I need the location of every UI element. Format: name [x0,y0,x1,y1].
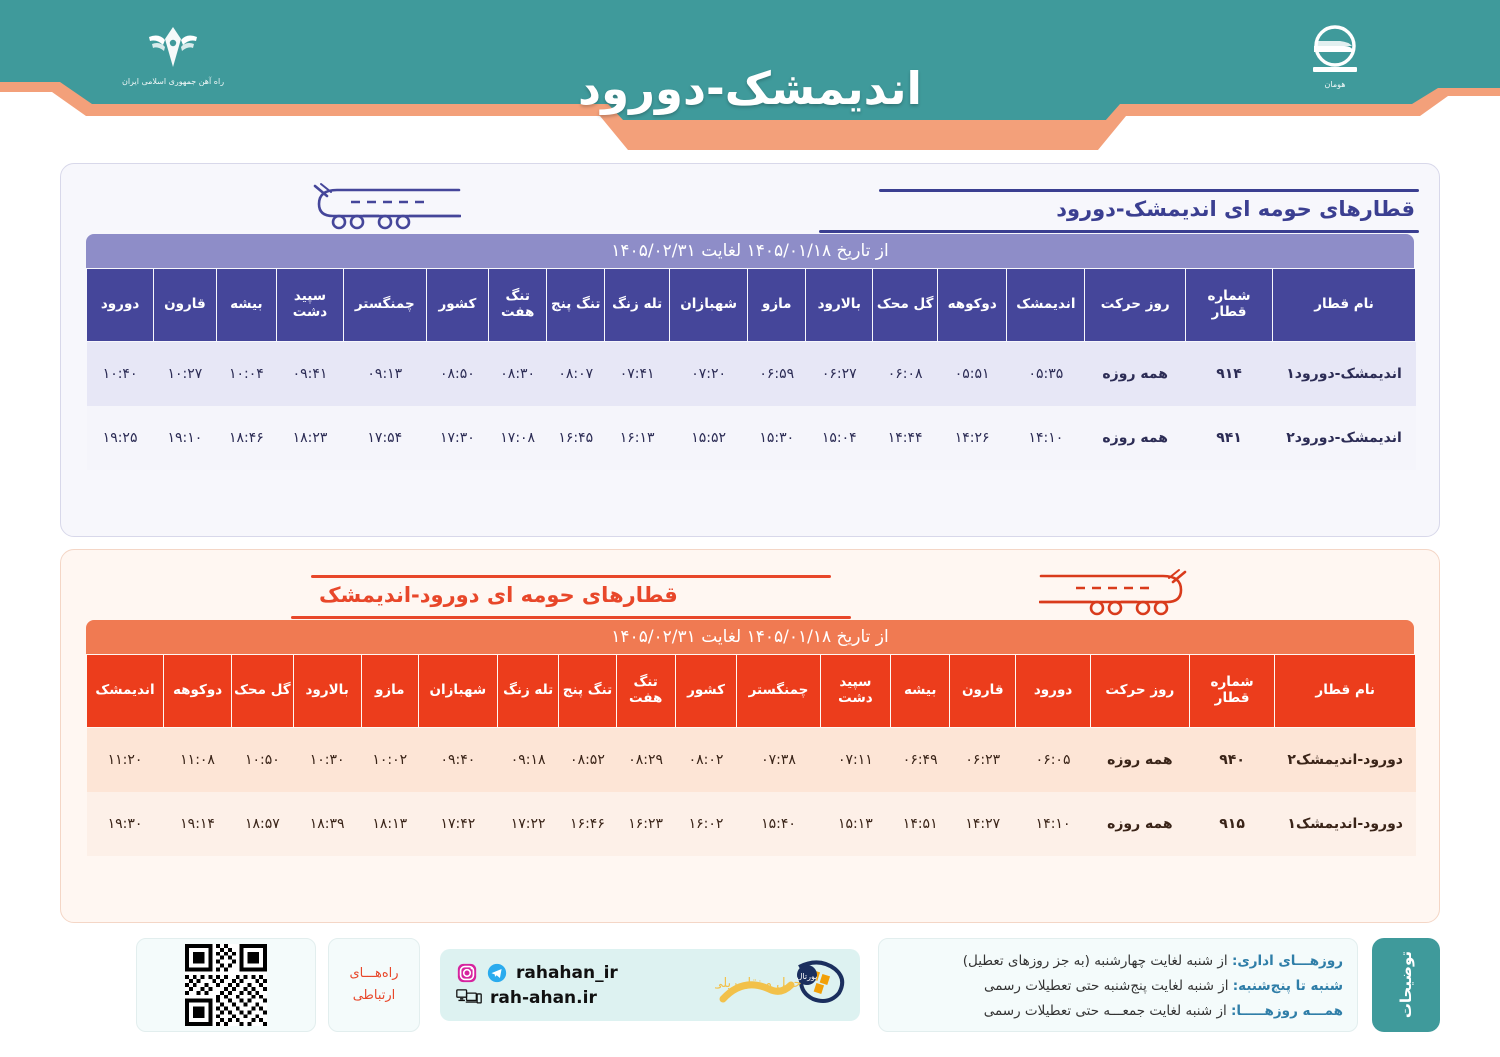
time-cell: ۱۰:۲۷ [154,342,217,407]
telegram-icon[interactable] [486,962,508,984]
time-cell: ۱۴:۱۰ [1007,406,1085,470]
contact-badge-line2: ارتباطی [349,985,398,1007]
col-station-12: بالارود [293,655,361,728]
table-row: دورود-اندیمشک۱ ۹۱۵ همه روزه ۱۴:۱۰ ۱۴:۲۷ … [87,792,1416,856]
note-text-3: از شنبه لغایت جمعـــه حتی تعطیلات رسمی [984,1003,1231,1019]
time-cell: ۱۱:۰۸ [164,728,232,793]
col-station-1: دورود [1016,655,1091,728]
time-cell: ۱۶:۲۳ [616,792,675,856]
notes-badge: توضیحات [1372,938,1440,1032]
note-line-3: همـــه روزهـــــا: از شنبه لغایت جمعـــه… [889,999,1343,1024]
time-cell: ۱۴:۵۱ [891,792,950,856]
col-train-name: نام قطار [1273,269,1416,342]
train-line-icon [311,182,461,234]
col-station-5: چمنگستر [737,655,820,728]
col-station-4: سپید دشت [820,655,890,728]
schedule-panel-dorud-andimeshk: قطارهای حومه ای دورود-اندیمشک از تاریخ ۱… [60,549,1440,923]
time-cell: ۱۹:۲۵ [87,406,154,470]
col-station-15: اندیمشک [87,655,164,728]
time-cell: ۱۹:۳۰ [87,792,164,856]
time-cell: ۰۹:۴۱ [276,342,343,407]
page-footer: توضیحات روزهـــای اداری: از شنبه لغایت چ… [60,935,1440,1047]
table2-header-row: نام قطار شماره قطار روز حرکت دورود قارون… [87,655,1416,728]
time-cell: ۰۸:۵۰ [426,342,489,407]
col-station-8: تنگ پنج [547,269,605,342]
time-cell: ۰۶:۲۷ [806,342,873,407]
time-cell: ۰۹:۱۳ [343,342,426,407]
time-cell: ۰۷:۲۰ [670,342,748,407]
time-cell: ۰۶:۰۵ [1016,728,1091,793]
train-name: اندیمشک-دورود۲ [1273,406,1416,470]
time-cell: ۱۸:۳۹ [293,792,361,856]
time-cell: ۱۵:۵۲ [670,406,748,470]
time-cell: ۱۴:۲۶ [938,406,1007,470]
table-row: اندیمشک-دورود۲ ۹۴۱ همه روزه ۱۴:۱۰ ۱۴:۲۶ … [87,406,1416,470]
col-station-6: شهبازان [670,269,748,342]
train-name: دورود-اندیمشک۱ [1275,792,1416,856]
table-row: اندیمشک-دورود۱ ۹۱۴ همه روزه ۰۵:۳۵ ۰۵:۵۱ … [87,342,1416,407]
note-label-3: همـــه روزهـــــا: [1231,1003,1343,1019]
col-station-13: گل محک [232,655,294,728]
time-cell: ۰۷:۳۸ [737,728,820,793]
section1-date-range: از تاریخ ۱۴۰۵/۰۱/۱۸ لغایت ۱۴۰۵/۰۲/۳۱ [86,234,1414,268]
time-cell: ۱۴:۴۴ [873,406,938,470]
time-cell: ۱۵:۰۴ [806,406,873,470]
time-cell: ۱۶:۴۶ [559,792,616,856]
col-station-3: بیشه [891,655,950,728]
time-cell: ۱۸:۴۶ [216,406,276,470]
time-cell: ۱۵:۳۰ [748,406,806,470]
time-cell: ۱۷:۰۸ [489,406,547,470]
train-name: دورود-اندیمشک۲ [1275,728,1416,793]
social-links: rahahan_ir rah-ahan.ir [440,959,710,1012]
time-cell: ۱۰:۰۲ [361,728,418,793]
contact-badge-line1: راه‌هـــای [349,963,398,985]
right-logo-caption: هومان [1325,80,1346,89]
col-station-14: دوکوهه [164,655,232,728]
section2-title: قطارهای حومه ای دورود-اندیمشک [319,583,678,607]
col-station-4: بالارود [806,269,873,342]
time-cell: ۱۰:۳۰ [293,728,361,793]
notes-box: روزهـــای اداری: از شنبه لغایت چهارشنبه … [878,938,1358,1032]
train-number: ۹۱۵ [1189,792,1275,856]
time-cell: ۱۷:۴۲ [418,792,497,856]
time-cell: ۱۸:۱۳ [361,792,418,856]
time-cell: ۱۰:۴۰ [87,342,154,407]
social-row-website[interactable]: rah-ahan.ir [456,987,696,1009]
time-cell: ۱۱:۲۰ [87,728,164,793]
time-cell: ۰۸:۳۰ [489,342,547,407]
col-run-days: روز حرکت [1090,655,1189,728]
time-cell: ۰۹:۱۸ [497,728,559,793]
train-line-icon [1039,568,1189,620]
time-cell: ۱۴:۱۰ [1016,792,1091,856]
col-station-14: قارون [154,269,217,342]
website-url[interactable]: rah-ahan.ir [490,988,597,1008]
time-cell: ۱۰:۰۴ [216,342,276,407]
schedule-table-dorud-andimeshk: نام قطار شماره قطار روز حرکت دورود قارون… [86,654,1416,856]
time-cell: ۱۰:۵۰ [232,728,294,793]
note-line-1: روزهـــای اداری: از شنبه لغایت چهارشنبه … [889,949,1343,974]
section1-title: قطارهای حومه ای اندیمشک-دورود [1056,197,1415,221]
iran-railways-winged-emblem-icon [145,23,201,75]
campaign-logo: پورتال حمل و نقل ریلی [710,953,860,1017]
time-cell: ۱۴:۲۷ [950,792,1016,856]
time-cell: ۰۵:۳۵ [1007,342,1085,407]
time-cell: ۰۸:۰۷ [547,342,605,407]
col-train-name: نام قطار [1275,655,1416,728]
col-run-days: روز حرکت [1085,269,1186,342]
time-cell: ۰۸:۵۲ [559,728,616,793]
section2-date-range: از تاریخ ۱۴۰۵/۰۱/۱۸ لغایت ۱۴۰۵/۰۲/۳۱ [86,620,1414,654]
train-name: اندیمشک-دورود۱ [1273,342,1416,407]
run-days: همه روزه [1085,342,1186,407]
time-cell: ۱۸:۲۳ [276,406,343,470]
train-number: ۹۴۰ [1189,728,1275,793]
train-number: ۹۱۴ [1185,342,1272,407]
col-station-2: دوکوهه [938,269,1007,342]
col-station-2: قارون [950,655,1016,728]
col-station-10: کشور [426,269,489,342]
instagram-handle[interactable]: rahahan_ir [516,963,618,983]
col-station-12: سپید دشت [276,269,343,342]
section1-rule-top [879,189,1419,192]
schedule-panel-andimeshk-dorud: قطارهای حومه ای اندیمشک-دورود از تاریخ ۱… [60,163,1440,537]
social-row-instagram-telegram[interactable]: rahahan_ir [456,962,696,984]
contact-badge: راه‌هـــای ارتباطی [328,938,420,1032]
col-station-11: مازو [361,655,418,728]
time-cell: ۱۹:۱۴ [164,792,232,856]
section1-rule-bottom [819,230,1419,233]
run-days: همه روزه [1090,792,1189,856]
col-station-3: گل محک [873,269,938,342]
col-train-number: شماره قطار [1185,269,1272,342]
note-label-2: شنبه تا پنج‌شنبه: [1233,978,1343,994]
time-cell: ۰۶:۵۹ [748,342,806,407]
train-number: ۹۴۱ [1185,406,1272,470]
note-text-1: از شنبه لغایت چهارشنبه (به جز روزهای تعط… [963,953,1232,969]
time-cell: ۱۶:۴۵ [547,406,605,470]
note-label-1: روزهـــای اداری: [1232,953,1343,969]
col-station-7: تنگ هفت [616,655,675,728]
qr-code-icon[interactable] [185,944,267,1026]
col-station-9: تنگ هفت [489,269,547,342]
col-station-5: مازو [748,269,806,342]
time-cell: ۱۷:۲۲ [497,792,559,856]
iran-railways-logo: راه آهن جمهوری اسلامی ایران [118,14,228,94]
time-cell: ۰۷:۱۱ [820,728,890,793]
col-train-number: شماره قطار [1189,655,1275,728]
table-row: دورود-اندیمشک۲ ۹۴۰ همه روزه ۰۶:۰۵ ۰۶:۲۳ … [87,728,1416,793]
time-cell: ۰۷:۴۱ [605,342,670,407]
col-station-10: شهبازان [418,655,497,728]
section2-rule-top [311,575,831,578]
time-cell: ۱۶:۰۲ [675,792,737,856]
col-station-7: تله زنگ [605,269,670,342]
schedule-table-andimeshk-dorud: نام قطار شماره قطار روز حرکت اندیمشک دوک… [86,268,1416,470]
time-cell: ۱۶:۱۳ [605,406,670,470]
qr-box [136,938,316,1032]
page-header: راه آهن جمهوری اسلامی ایران هومان اندیمش… [0,0,1500,150]
time-cell: ۰۶:۰۸ [873,342,938,407]
svg-text:حمل و نقل ریلی: حمل و نقل ریلی [715,976,802,991]
time-cell: ۱۸:۵۷ [232,792,294,856]
col-station-13: بیشه [216,269,276,342]
col-station-11: چمنگستر [343,269,426,342]
run-days: همه روزه [1090,728,1189,793]
time-cell: ۰۵:۵۱ [938,342,1007,407]
time-cell: ۱۵:۴۰ [737,792,820,856]
time-cell: ۱۷:۳۰ [426,406,489,470]
table1-header-row: نام قطار شماره قطار روز حرکت اندیمشک دوک… [87,269,1416,342]
col-station-6: کشور [675,655,737,728]
col-station-8: تنگ پنج [559,655,616,728]
time-cell: ۰۹:۴۰ [418,728,497,793]
section2-rule-bottom [291,616,851,619]
time-cell: ۱۷:۵۴ [343,406,426,470]
portal-haml-o-naghl-e-rili-logo-icon: پورتال حمل و نقل ریلی [715,955,855,1015]
time-cell: ۰۸:۰۲ [675,728,737,793]
train-in-circle-logo-icon [1306,24,1364,78]
houman-logo: هومان [1280,16,1390,96]
col-station-9: تله زنگ [497,655,559,728]
time-cell: ۱۵:۱۳ [820,792,890,856]
instagram-icon[interactable] [456,962,478,984]
time-cell: ۰۶:۲۳ [950,728,1016,793]
train-line-graphic [311,182,461,238]
notes-badge-label: توضیحات [1397,951,1415,1018]
col-station-1: اندیمشک [1007,269,1085,342]
time-cell: ۰۶:۴۹ [891,728,950,793]
col-station-15: دورود [87,269,154,342]
social-box: پورتال حمل و نقل ریلی rahahan_ir [440,949,860,1021]
run-days: همه روزه [1085,406,1186,470]
note-text-2: از شنبه لغایت پنج‌شنبه حتی تعطیلات رسمی [984,978,1233,994]
note-line-2: شنبه تا پنج‌شنبه: از شنبه لغایت پنج‌شنبه… [889,974,1343,999]
devices-icon [456,987,482,1009]
train-line-graphic [1039,568,1189,624]
time-cell: ۰۸:۲۹ [616,728,675,793]
left-logo-caption: راه آهن جمهوری اسلامی ایران [122,77,224,86]
time-cell: ۱۹:۱۰ [154,406,217,470]
